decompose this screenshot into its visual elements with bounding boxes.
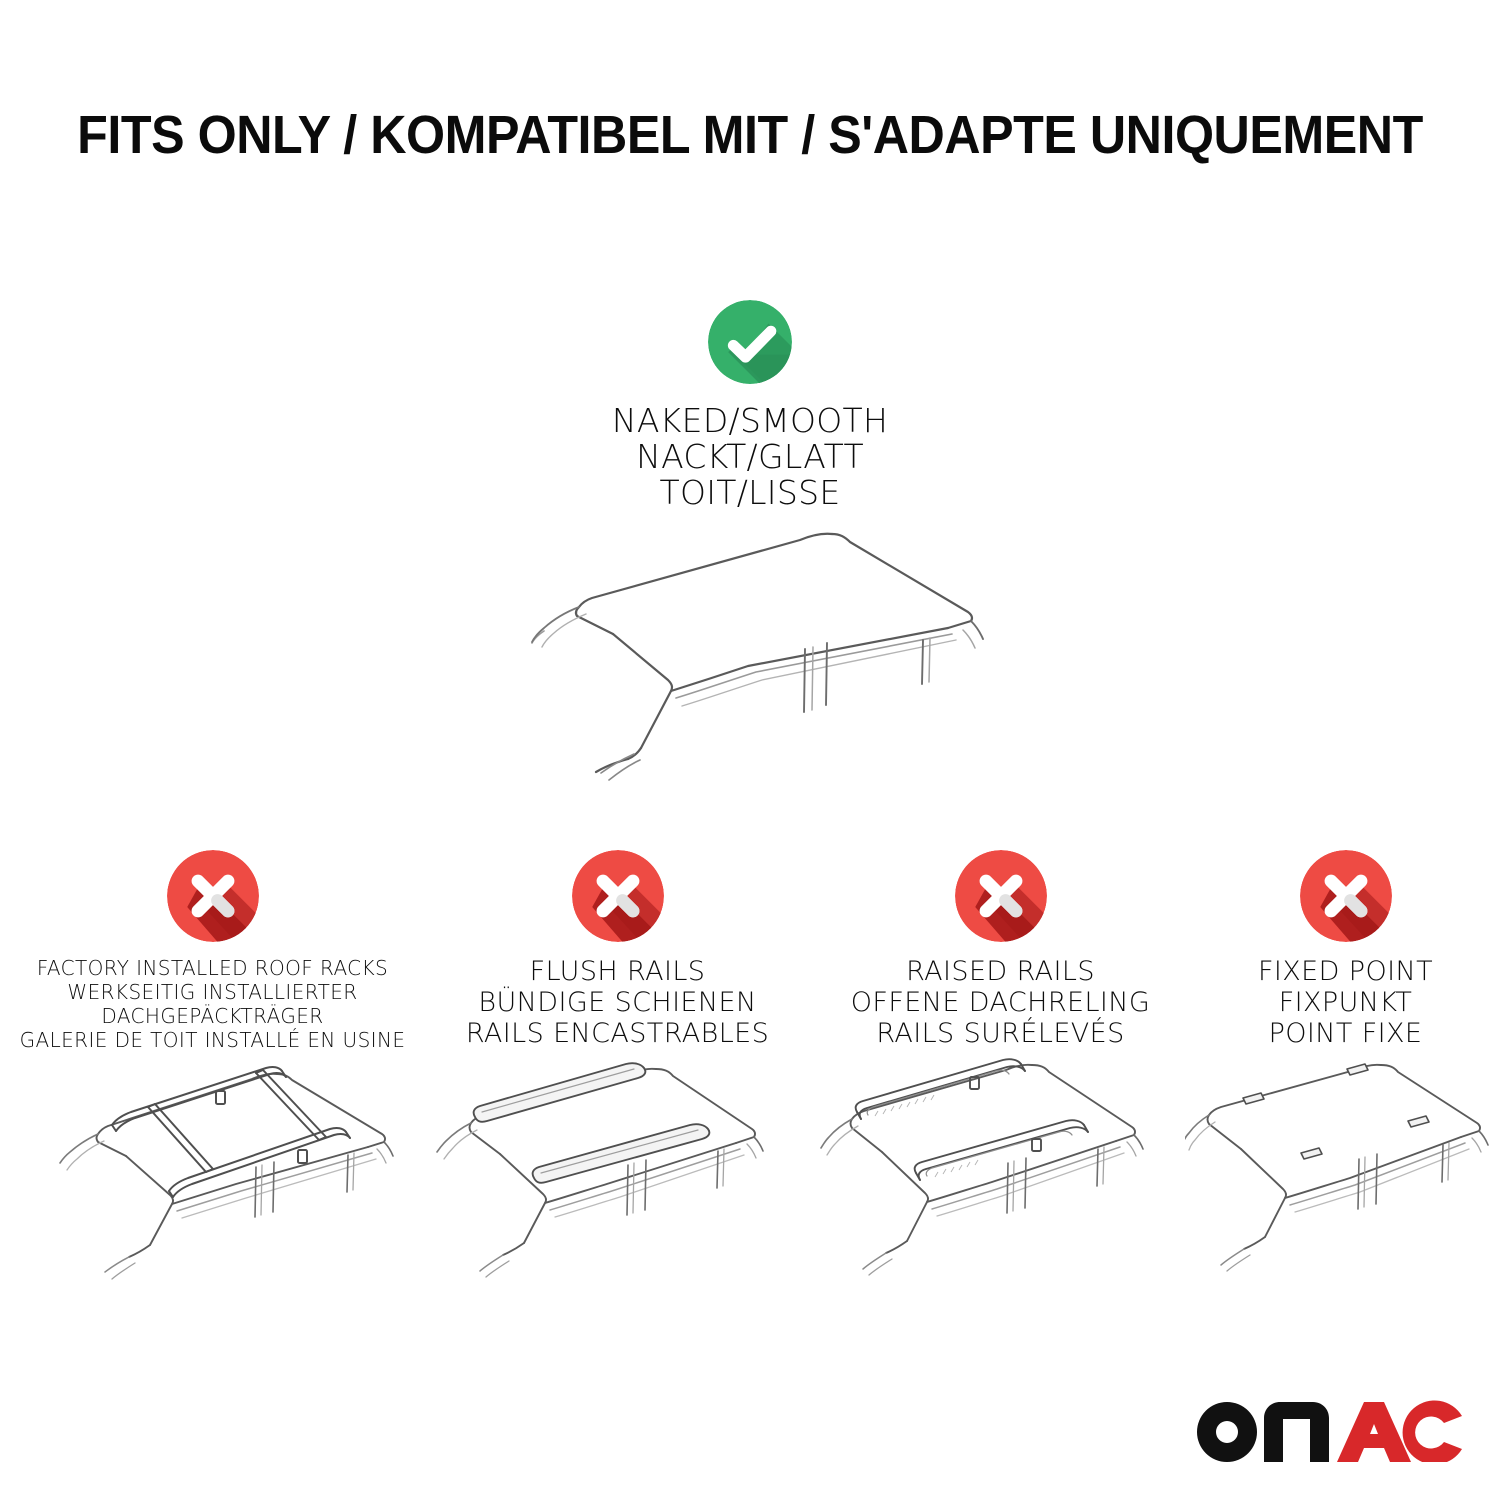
- car-roof-flush-rails-illustration: [428, 1055, 848, 1290]
- label-line-3: RAILS ENCASTRABLES: [425, 1018, 810, 1049]
- incompatible-label-factory-rack: FACTORY INSTALLED ROOF RACKS WERKSEITIG …: [0, 956, 425, 1052]
- car-roof-fixed-point-illustration: [1185, 1055, 1500, 1290]
- label-line-1: RAISED RAILS: [810, 956, 1191, 987]
- check-circle-icon: [708, 300, 792, 384]
- label-line-3: DACHGEPÄCKTRÄGER: [0, 1004, 425, 1028]
- label-line-3: POINT FIXE: [1191, 1018, 1500, 1049]
- incompatible-section-fixed-point: FIXED POINT FIXPUNKT POINT FIXE: [1191, 850, 1500, 1049]
- label-line-4: GALERIE DE TOIT INSTALLÉ EN USINE: [0, 1028, 425, 1052]
- page-title: FITS ONLY / KOMPATIBEL MIT / S'ADAPTE UN…: [53, 104, 1448, 166]
- car-roof-naked-smooth-illustration: [500, 522, 1020, 812]
- compatible-label-line-2: NACKT/GLATT: [0, 439, 1500, 475]
- compatible-section: NAKED/SMOOTH NACKT/GLATT TOIT/LISSE: [0, 300, 1500, 511]
- incompatible-section-factory-rack: FACTORY INSTALLED ROOF RACKS WERKSEITIG …: [0, 850, 425, 1052]
- incompatible-section-raised-rails: RAISED RAILS OFFENE DACHRELING RAILS SUR…: [810, 850, 1191, 1049]
- label-line-1: FIXED POINT: [1191, 956, 1500, 987]
- label-line-2: BÜNDIGE SCHIENEN: [425, 987, 810, 1018]
- omac-logo: [1196, 1400, 1462, 1462]
- compatible-label-line-3: TOIT/LISSE: [0, 475, 1500, 511]
- incompatible-section-flush-rails: FLUSH RAILS BÜNDIGE SCHIENEN RAILS ENCAS…: [425, 850, 810, 1049]
- cross-circle-icon: [955, 850, 1047, 942]
- cross-circle-icon: [1300, 850, 1392, 942]
- incompatible-label-raised-rails: RAISED RAILS OFFENE DACHRELING RAILS SUR…: [810, 956, 1191, 1049]
- incompatible-label-flush-rails: FLUSH RAILS BÜNDIGE SCHIENEN RAILS ENCAS…: [425, 956, 810, 1049]
- label-line-2: WERKSEITIG INSTALLIERTER: [0, 980, 425, 1004]
- compatible-label: NAKED/SMOOTH NACKT/GLATT TOIT/LISSE: [0, 403, 1500, 511]
- cross-circle-icon: [572, 850, 664, 942]
- label-line-2: FIXPUNKT: [1191, 987, 1500, 1018]
- label-line-2: OFFENE DACHRELING: [810, 987, 1191, 1018]
- cross-circle-icon: [167, 850, 259, 942]
- compatible-label-line-1: NAKED/SMOOTH: [0, 403, 1500, 439]
- incompatible-label-fixed-point: FIXED POINT FIXPUNKT POINT FIXE: [1191, 956, 1500, 1049]
- label-line-1: FLUSH RAILS: [425, 956, 810, 987]
- car-roof-factory-rack-illustration: [30, 1055, 450, 1290]
- label-line-3: RAILS SURÉLEVÉS: [810, 1018, 1191, 1049]
- car-roof-raised-rails-illustration: [820, 1055, 1240, 1290]
- label-line-1: FACTORY INSTALLED ROOF RACKS: [0, 956, 425, 980]
